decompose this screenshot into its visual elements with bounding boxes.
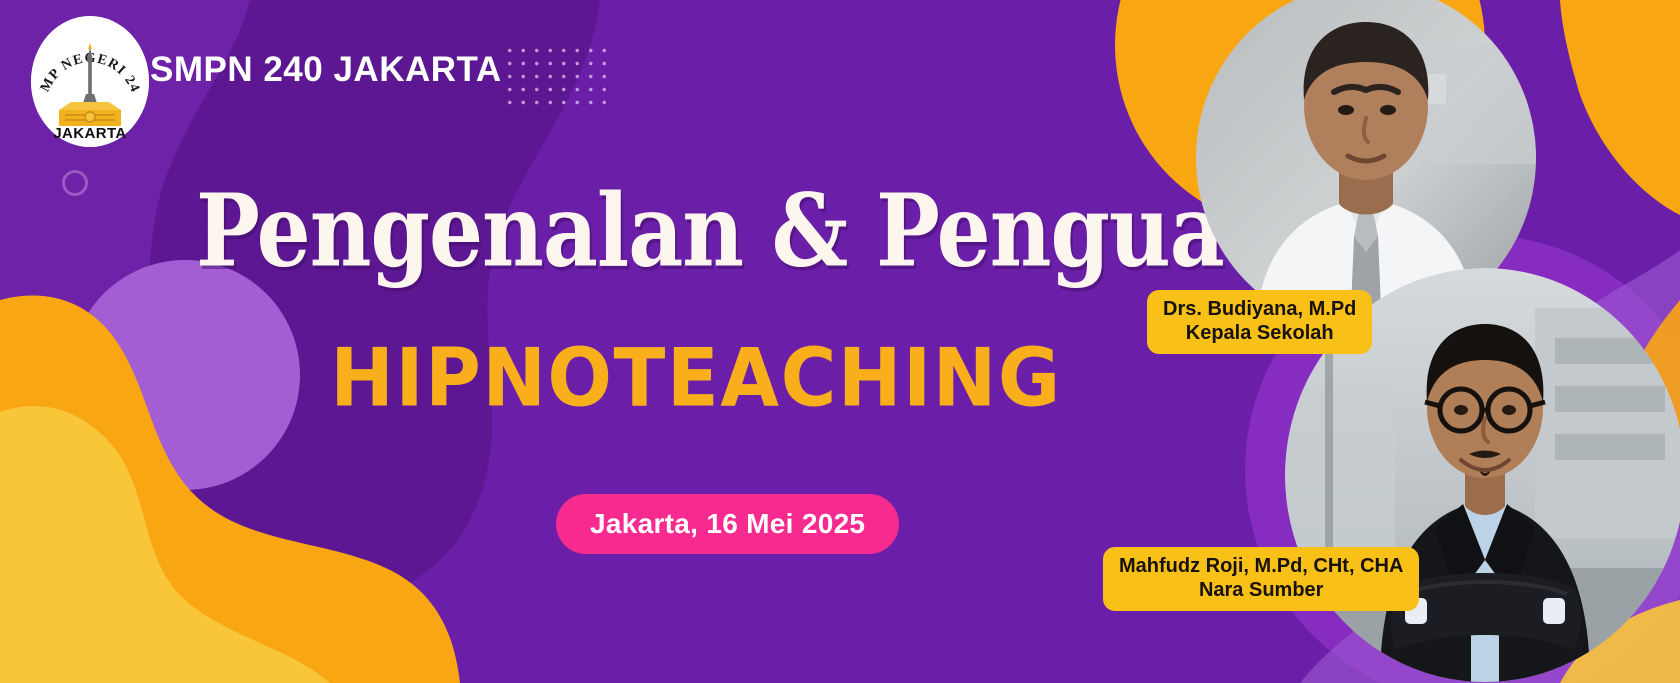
event-banner: SMP NEGERI 240 JAKARTA SMPN 240 JAKARTA … [0, 0, 1680, 683]
ring-decoration [62, 170, 88, 196]
speaker-role: Nara Sumber [1119, 578, 1403, 602]
dot-grid-decoration [503, 44, 611, 108]
school-name-title: SMPN 240 JAKARTA [150, 50, 502, 90]
event-date-badge: Jakarta, 16 Mei 2025 [556, 494, 899, 554]
speaker-name-card: Mahfudz Roji, M.Pd, CHt, CHA Nara Sumber [1103, 547, 1419, 611]
principal-name: Drs. Budiyana, M.Pd [1163, 298, 1356, 320]
page-title: Pengenalan & Penguatan [196, 183, 1186, 281]
page-subtitle: HIPNOTEACHING [196, 330, 1196, 424]
principal-name-card: Drs. Budiyana, M.Pd Kepala Sekolah [1147, 290, 1372, 354]
smpn240-jakarta-logo: SMP NEGERI 240 JAKARTA [31, 16, 149, 147]
principal-role: Kepala Sekolah [1163, 321, 1356, 345]
speaker-name: Mahfudz Roji, M.Pd, CHt, CHA [1119, 555, 1403, 577]
svg-text:JAKARTA: JAKARTA [53, 125, 126, 142]
